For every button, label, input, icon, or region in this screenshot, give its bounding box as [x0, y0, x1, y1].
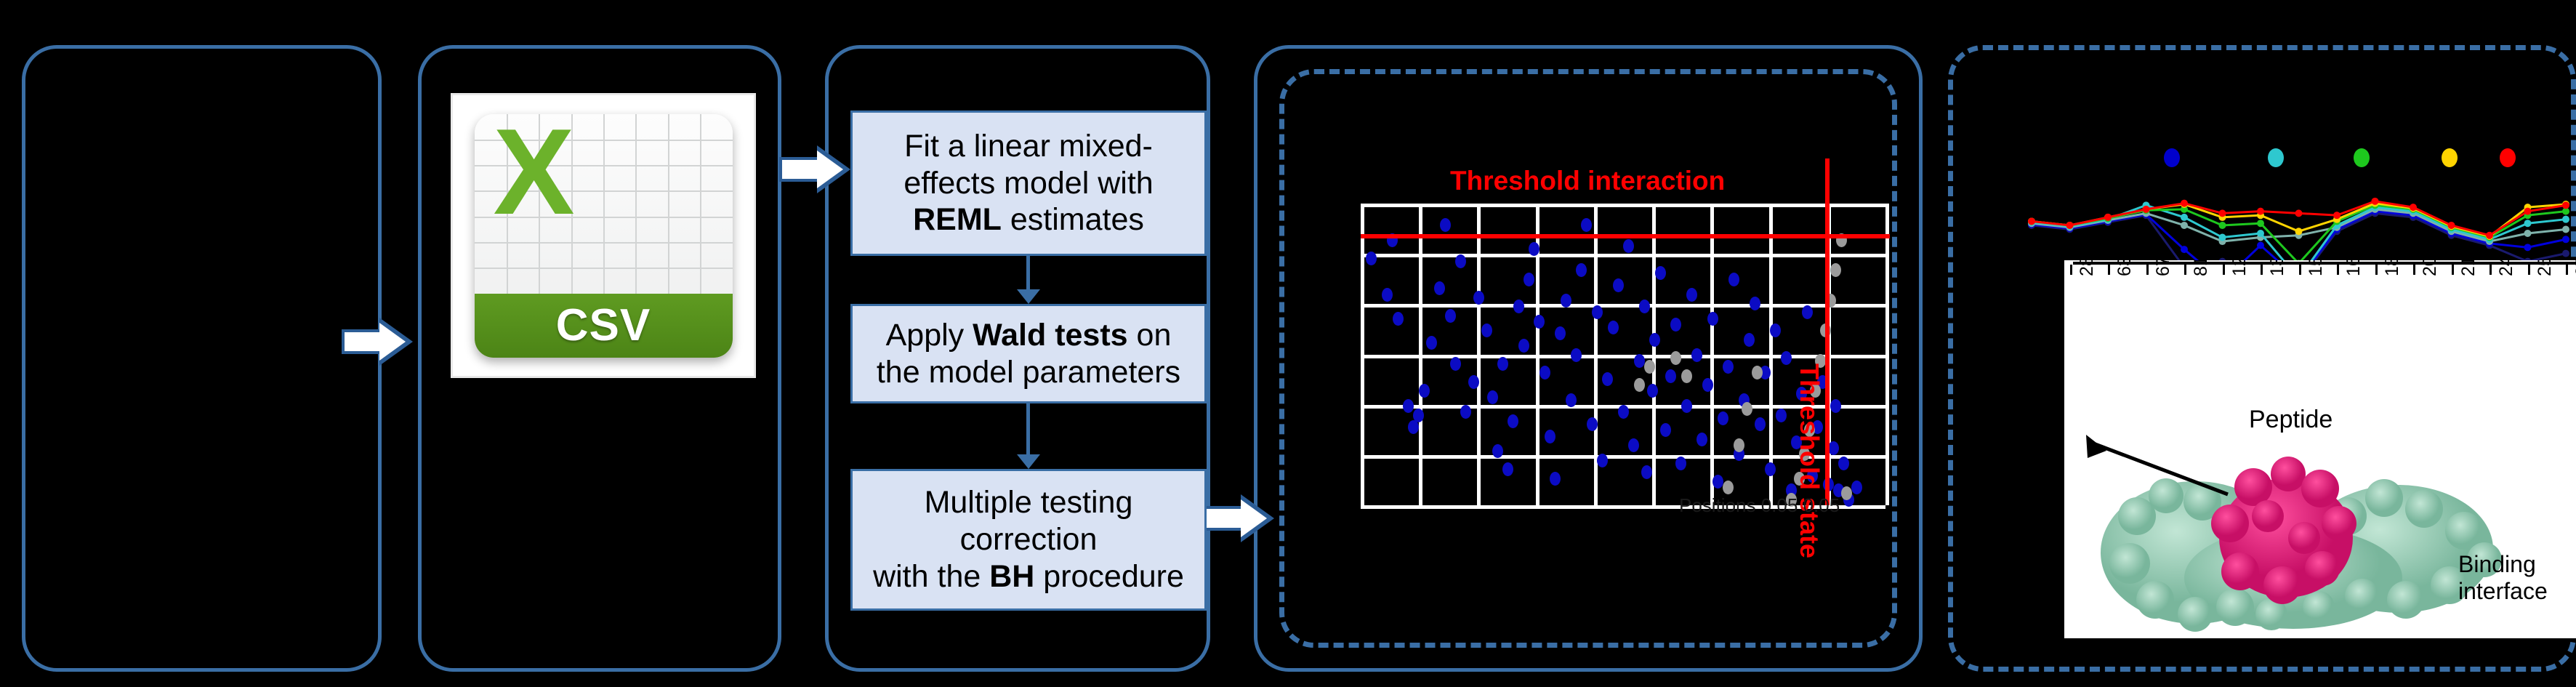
peptide-tick	[2261, 265, 2263, 275]
series-marker-teal	[2562, 225, 2569, 233]
scatter-point-blue	[1550, 472, 1561, 486]
connector-arrowhead-1-icon	[1017, 289, 1040, 304]
scatter-point-blue	[1828, 441, 1839, 455]
scatter-point-blue	[1539, 366, 1550, 379]
scatter-point-blue	[1566, 393, 1577, 407]
legend-dot-state-3	[2354, 148, 2370, 167]
series-marker-red	[2028, 217, 2035, 225]
wald-lead: Apply	[886, 318, 973, 353]
flow-arrow-3-icon	[1203, 494, 1283, 542]
scatter-point-blue	[1802, 305, 1813, 319]
scatter-point-blue	[1623, 239, 1634, 253]
scatter-point-blue	[1513, 300, 1524, 313]
series-marker-cyan	[2562, 216, 2569, 223]
scatter-point-blue	[1641, 465, 1652, 479]
csv-label: CSV	[556, 300, 651, 351]
peptide-tick	[2490, 265, 2492, 275]
scatter-point-blue	[1434, 281, 1445, 295]
fit-model-bold-term: REML	[913, 202, 1002, 237]
legend-dot-state-5	[2500, 148, 2516, 167]
scatter-point-blue	[1468, 375, 1479, 389]
series-marker-red	[2257, 208, 2264, 215]
series-marker-red	[2143, 206, 2150, 213]
fit-model-step[interactable]: Fit a linear mixed- effects model with R…	[850, 111, 1207, 256]
peptide-tick-label: 81-101	[2191, 260, 2212, 276]
series-marker-red	[2333, 212, 2340, 219]
peptide-line-chart	[1963, 145, 2573, 262]
wald-tests-step[interactable]: Apply Wald tests on the model parameters	[850, 304, 1207, 403]
scatter-point-blue	[1487, 390, 1498, 404]
multiple-testing-step[interactable]: Multiple testing correction with the BH …	[850, 469, 1207, 611]
scatter-point-blue	[1366, 252, 1377, 265]
threshold-interaction-line	[1361, 234, 1890, 238]
series-marker-blue	[2524, 244, 2532, 251]
scatter-point-blue	[1665, 369, 1676, 383]
connector-line-1	[1026, 256, 1030, 291]
peptide-tick-label: 158-166	[2306, 260, 2327, 276]
series-marker-blue	[2257, 242, 2264, 249]
series-marker-green	[2219, 222, 2226, 229]
scatter-point-blue	[1413, 409, 1424, 422]
scatter-point-blue	[1492, 444, 1503, 458]
scatter-point-blue	[1660, 423, 1671, 437]
legend-dot-state-1	[2164, 148, 2180, 167]
series-marker-cyan	[2219, 234, 2226, 241]
binding-interface-annotation: Binding interface	[2458, 551, 2575, 605]
peptide-tick-label: 218-237	[2458, 260, 2479, 276]
series-marker-yellow	[2295, 228, 2303, 235]
scatter-point-blue	[1696, 433, 1707, 446]
scatter-point-blue	[1686, 288, 1697, 302]
scatter-point-grey	[1742, 402, 1752, 416]
scatter-point-blue	[1597, 454, 1608, 467]
scatter-point-blue	[1647, 384, 1658, 398]
scatter-point-blue	[1765, 462, 1776, 476]
threshold-state-label: Threshold state	[1794, 363, 1824, 558]
wald-bold-term: Wald tests	[973, 318, 1127, 353]
csv-file-icon: X CSV	[451, 93, 756, 378]
peptide-tick	[2146, 265, 2149, 275]
wald-line2: the model parameters	[877, 355, 1180, 390]
peptide-tick	[2108, 265, 2110, 275]
peptide-tick	[2299, 265, 2301, 275]
fit-model-line2: effects model with	[903, 166, 1153, 201]
connector-line-2	[1026, 403, 1030, 456]
scatter-point-grey	[1634, 378, 1645, 392]
scatter-gridline-h	[1361, 254, 1885, 257]
series-marker-red	[2562, 201, 2569, 209]
scatter-gridline-h	[1361, 204, 1885, 207]
threshold-state-line	[1825, 158, 1830, 505]
peptide-tick-label: 200-214	[2420, 260, 2441, 276]
scatter-point-blue	[1723, 360, 1734, 374]
scatter-point-blue	[1502, 462, 1513, 476]
flow-arrow-1-icon	[342, 318, 422, 366]
scatter-point-blue	[1445, 309, 1456, 323]
peptide-tick	[2223, 265, 2225, 275]
scatter-point-blue	[1473, 291, 1484, 305]
scatter-point-blue	[1781, 351, 1792, 365]
peptide-tick-label: 167-180	[2343, 260, 2364, 276]
legend-dot-state-4	[2442, 148, 2458, 167]
scatter-point-blue	[1440, 218, 1451, 232]
peptide-tick-label: 184-199	[2382, 260, 2403, 276]
scatter-point-blue	[1851, 481, 1862, 494]
scatter-point-grey	[1723, 481, 1734, 494]
scatter-point-blue	[1587, 417, 1598, 431]
scatter-point-blue	[1419, 384, 1430, 398]
scatter-point-blue	[1571, 348, 1582, 362]
scatter-point-blue	[1518, 339, 1529, 353]
series-marker-blue	[2562, 236, 2569, 243]
scatter-point-blue	[1838, 457, 1849, 470]
scatter-point-grey	[1670, 351, 1681, 365]
series-marker-navy	[2562, 250, 2569, 257]
series-marker-teal	[2524, 230, 2532, 237]
series-marker-red	[2219, 209, 2226, 217]
series-marker-red	[2295, 209, 2303, 217]
fit-model-tail: estimates	[1002, 202, 1144, 237]
scatter-point-blue	[1581, 218, 1592, 232]
series-marker-cyan	[2181, 214, 2188, 221]
scatter-point-blue	[1744, 333, 1755, 347]
fit-model-line1: Fit a linear mixed-	[904, 129, 1153, 164]
scatter-gridline-h	[1361, 355, 1885, 358]
scatter-point-blue	[1830, 399, 1841, 413]
scatter-point-blue	[1403, 399, 1414, 413]
peptide-tick-label: 241-257	[2496, 260, 2517, 276]
series-marker-red	[2181, 200, 2188, 207]
scatter-point-blue	[1408, 420, 1419, 434]
scatter-point-grey	[1734, 438, 1744, 452]
series-marker-red	[2524, 208, 2532, 215]
scatter-point-blue	[1750, 297, 1760, 310]
scatter-point-blue	[1655, 266, 1666, 280]
scatter-point-blue	[1592, 305, 1603, 319]
peptide-tick-label: 122-129	[2229, 260, 2250, 276]
peptide-tick-label: 67-75	[2153, 260, 2174, 276]
csv-x-letter: X	[494, 121, 592, 223]
series-marker-cyan	[2524, 220, 2532, 227]
scatter-point-blue	[1460, 405, 1471, 419]
scatter-point-blue	[1639, 300, 1650, 313]
scatter-point-grey	[1681, 369, 1692, 383]
scatter-point-blue	[1634, 354, 1645, 368]
scatter-point-blue	[1561, 294, 1571, 308]
peptide-tick	[2337, 265, 2339, 275]
peptide-tick	[2184, 265, 2186, 275]
scatter-point-blue	[1576, 263, 1587, 277]
mt-line1: Multiple testing	[925, 485, 1133, 520]
peptide-tick-label: 63-73	[2114, 260, 2136, 276]
peptide-tick	[2452, 265, 2454, 275]
series-marker-red	[2486, 232, 2493, 239]
scatter-point-blue	[1707, 312, 1718, 326]
binding-line-1: Binding	[2458, 551, 2575, 578]
scatter-point-blue	[1755, 417, 1766, 431]
scatter-point-blue	[1555, 326, 1566, 340]
scatter-point-blue	[1481, 324, 1492, 337]
scatter-point-blue	[1534, 315, 1545, 329]
scatter-point-blue	[1770, 324, 1781, 337]
scatter-point-blue	[1712, 475, 1723, 489]
mt-bold-term: BH	[989, 559, 1034, 594]
series-marker-cyan	[2257, 230, 2264, 237]
scatter-gridline-v	[1885, 204, 1889, 505]
series-marker-red	[2448, 222, 2455, 229]
peptide-tick-label: 258-266	[2535, 260, 2556, 276]
scatter-point-blue	[1497, 357, 1508, 371]
peptide-tick-label: 28-44	[2077, 260, 2098, 276]
peptide-tick-label: 277-284	[2572, 260, 2576, 276]
scatter-point-blue	[1450, 357, 1461, 371]
legend-dot-state-2	[2268, 148, 2284, 167]
scatter-point-blue	[1618, 405, 1629, 419]
series-marker-red	[2066, 222, 2074, 229]
mt-tail3: procedure	[1034, 559, 1184, 594]
input-panel	[22, 45, 382, 672]
peptide-tick	[2566, 265, 2568, 275]
scatter-point-blue	[1628, 438, 1639, 452]
scatter-point-blue	[1524, 273, 1534, 286]
scatter-point-blue	[1382, 288, 1393, 302]
mt-line2: correction	[960, 522, 1098, 557]
peptide-tick	[2413, 265, 2415, 275]
flow-arrow-2-icon	[779, 145, 859, 193]
peptide-tick	[2070, 265, 2072, 275]
csv-band: CSV	[475, 294, 733, 358]
scatter-title: Threshold interaction	[1450, 166, 1725, 196]
scatter-point-blue	[1776, 409, 1787, 422]
scatter-point-blue	[1508, 414, 1518, 428]
scatter-point-blue	[1426, 336, 1437, 350]
binding-line-2: interface	[2458, 578, 2575, 605]
mt-lead3: with the	[873, 559, 989, 594]
scatter-point-blue	[1718, 411, 1728, 425]
scatter-faint-label: Positions 0.05 0.05	[1679, 494, 1840, 517]
scatter-point-blue	[1728, 273, 1739, 286]
scatter-point-blue	[1691, 348, 1702, 362]
series-marker-red	[2410, 204, 2417, 211]
peptide-tick	[2528, 265, 2530, 275]
series-marker-blue	[2181, 246, 2188, 253]
scatter-point-blue	[1675, 457, 1686, 470]
series-marker-teal	[2181, 222, 2188, 229]
scatter-point-blue	[1670, 318, 1681, 332]
scatter-point-blue	[1613, 278, 1624, 292]
scatter-point-blue	[1545, 430, 1555, 443]
series-marker-red	[2104, 214, 2112, 221]
connector-arrowhead-2-icon	[1017, 454, 1040, 469]
series-marker-green	[2257, 220, 2264, 227]
peptide-tick	[2375, 265, 2378, 275]
series-marker-red	[2372, 198, 2379, 205]
scatter-point-blue	[1681, 399, 1692, 413]
scatter-point-blue	[1393, 312, 1404, 326]
scatter-point-blue	[1649, 333, 1660, 347]
scatter-point-blue	[1602, 372, 1613, 386]
scatter-point-blue	[1455, 254, 1466, 268]
scatter-point-blue	[1608, 321, 1619, 334]
peptide-chart-card: 1-1528-4463-7367-7581-101122-129135-1441…	[2064, 260, 2576, 638]
scatter-point-grey	[1830, 263, 1841, 277]
wald-tail: on	[1128, 318, 1172, 353]
scatter-point-blue	[1702, 378, 1713, 392]
peptide-tick-label: 135-144	[2267, 260, 2288, 276]
